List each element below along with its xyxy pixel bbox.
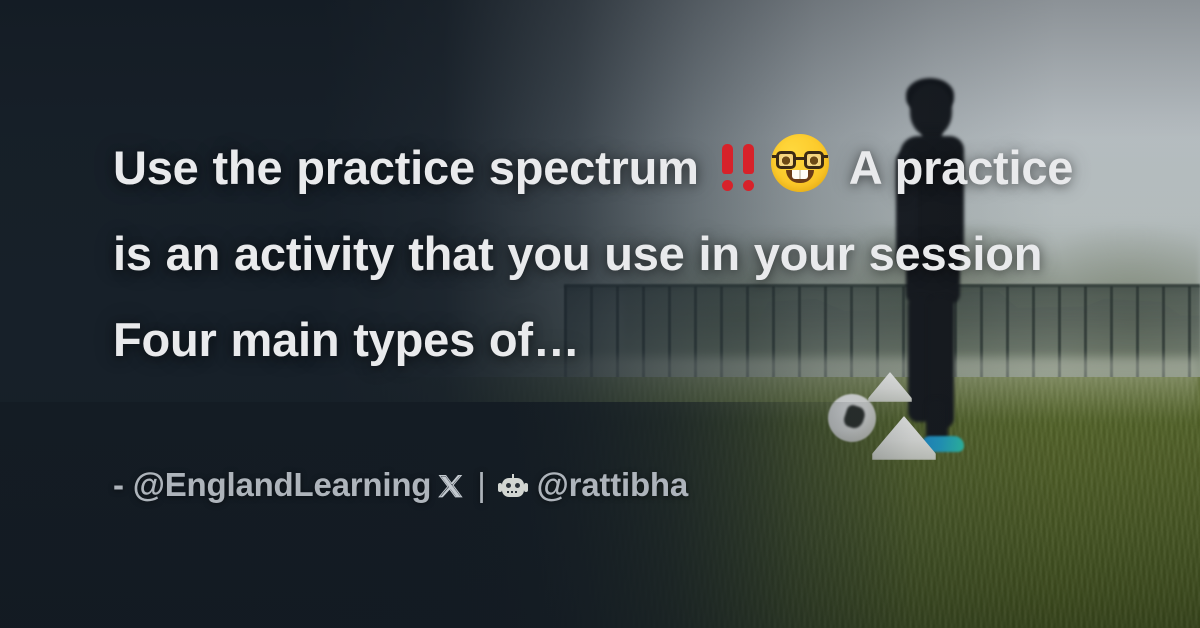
quote-segment-1: Use the practice spectrum: [113, 141, 713, 194]
glasses-temple-right: [823, 155, 828, 158]
robot-eye-left: [506, 483, 511, 488]
nerd-face-emoji: [771, 134, 829, 192]
service-handle[interactable]: @rattibha: [537, 466, 688, 503]
attribution-dash: -: [113, 466, 124, 503]
glasses-lens-left: [776, 151, 796, 169]
nerd-glasses: [775, 151, 825, 169]
robot-eye-right: [515, 483, 520, 488]
glasses-bridge: [796, 157, 804, 160]
robot-ear-right: [524, 483, 528, 492]
attribution-separator: |: [477, 466, 485, 504]
glasses-lens-right: [804, 151, 824, 169]
quote-text: Use the practice spectrum A practice is …: [113, 125, 1103, 383]
attribution-line: - @EnglandLearning | @ratti: [113, 466, 688, 504]
quote-card: Use the practice spectrum A practice is …: [0, 0, 1200, 628]
nerd-mouth: [786, 170, 814, 183]
robot-emoji: [498, 474, 528, 504]
robot-head: [502, 478, 524, 497]
card-content: Use the practice spectrum A practice is …: [113, 0, 1113, 628]
robot-mouth-grill: [507, 491, 519, 493]
author-handle[interactable]: @EnglandLearning: [133, 466, 432, 503]
nerd-teeth: [792, 170, 808, 179]
x-twitter-logo[interactable]: [437, 473, 465, 501]
double-exclamation-mark-emoji: [717, 142, 763, 192]
